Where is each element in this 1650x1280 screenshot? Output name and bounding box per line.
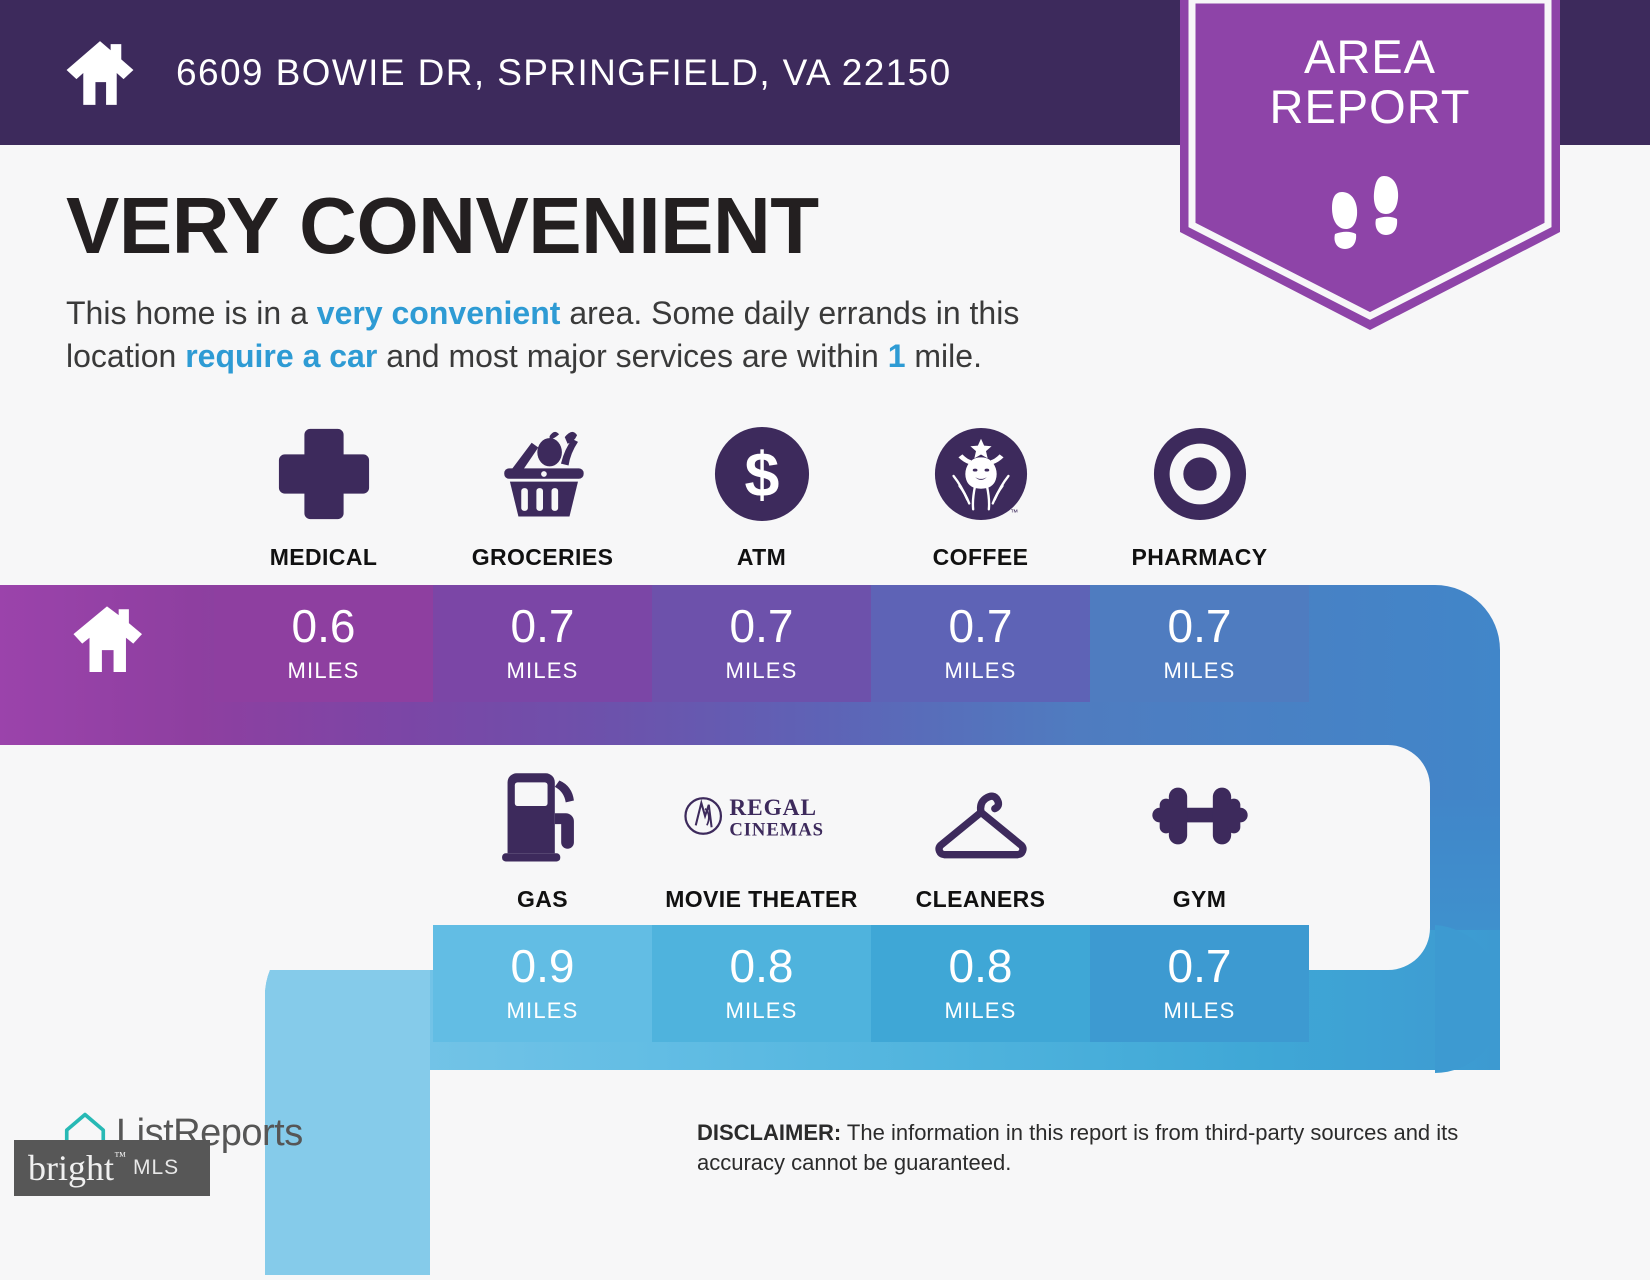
amenity-label: PHARMACY — [1131, 544, 1267, 571]
dollar-circle-icon: $ — [713, 418, 811, 530]
amenity-gym: GYM — [1090, 760, 1309, 913]
distance-cell-pharmacy: 0.7 MILES — [1090, 585, 1309, 702]
distance-cell-coffee: 0.7 MILES — [871, 585, 1090, 702]
svg-text:$: $ — [744, 441, 779, 511]
amenity-movie-theater: REGAL CINEMAS MOVIE THEATER — [652, 760, 871, 913]
amenity-groceries: GROCERIES — [433, 418, 652, 571]
distance-value: 0.7 — [949, 603, 1013, 649]
distance-unit: MILES — [725, 658, 797, 684]
svg-text:REGAL: REGAL — [729, 795, 817, 821]
grocery-basket-icon — [491, 418, 595, 530]
amenity-label: MEDICAL — [270, 544, 378, 571]
summary-highlight-3: 1 — [888, 338, 906, 374]
distance-value-row-1: 0.6 MILES 0.7 MILES 0.7 MILES 0.7 MILES … — [214, 585, 1309, 702]
amenity-label: COFFEE — [933, 544, 1029, 571]
amenity-label: MOVIE THEATER — [665, 886, 858, 913]
disclaimer-label: DISCLAIMER: — [697, 1120, 841, 1145]
distance-unit: MILES — [944, 658, 1016, 684]
dumbbell-icon — [1145, 760, 1255, 872]
distance-value: 0.7 — [730, 603, 794, 649]
starbucks-icon: ™ — [932, 418, 1030, 530]
bright-mls-watermark: bright ™ MLS — [14, 1140, 210, 1196]
area-report-badge: AREA REPORT — [1180, 0, 1560, 330]
page-title: VERY CONVENIENT — [66, 186, 1166, 266]
trademark-symbol: ™ — [114, 1149, 126, 1164]
svg-text:CINEMAS: CINEMAS — [729, 820, 824, 841]
disclaimer: DISCLAIMER: The information in this repo… — [697, 1118, 1517, 1177]
svg-text:™: ™ — [1010, 508, 1018, 517]
amenity-label: CLEANERS — [916, 886, 1046, 913]
summary-text-3: and most major services are within — [377, 338, 887, 374]
amenity-pharmacy: PHARMACY — [1090, 418, 1309, 571]
bright-brand-name: bright ™ — [28, 1147, 114, 1189]
distance-unit: MILES — [1163, 998, 1235, 1024]
summary-text-4: mile. — [906, 338, 982, 374]
summary-highlight-2: require a car — [185, 338, 377, 374]
badge-title: AREA REPORT — [1180, 32, 1560, 132]
gas-pump-icon — [493, 760, 593, 872]
amenity-label: GROCERIES — [472, 544, 614, 571]
distance-unit: MILES — [506, 658, 578, 684]
summary-description: This home is in a very convenient area. … — [66, 292, 1106, 378]
amenity-medical: MEDICAL — [214, 418, 433, 571]
medical-cross-icon — [275, 418, 373, 530]
home-marker-icon — [70, 602, 144, 672]
badge-line-1: AREA — [1180, 32, 1560, 82]
distance-unit: MILES — [506, 998, 578, 1024]
footprints-icon — [1324, 168, 1416, 256]
distance-cell-cleaners: 0.8 MILES — [871, 925, 1090, 1042]
distance-value: 0.8 — [949, 943, 1013, 989]
amenity-label: GYM — [1173, 886, 1227, 913]
distance-cell-groceries: 0.7 MILES — [433, 585, 652, 702]
distance-unit: MILES — [944, 998, 1016, 1024]
distance-cell-medical: 0.6 MILES — [214, 585, 433, 702]
distance-unit: MILES — [1163, 658, 1235, 684]
amenity-coffee: ™ COFFEE — [871, 418, 1090, 571]
distance-value: 0.7 — [511, 603, 575, 649]
regal-cinemas-icon: REGAL CINEMAS — [682, 760, 842, 872]
distance-cell-movie-theater: 0.8 MILES — [652, 925, 871, 1042]
amenity-atm: $ ATM — [652, 418, 871, 571]
home-icon — [62, 35, 138, 111]
distance-value: 0.9 — [511, 943, 575, 989]
distance-value: 0.8 — [730, 943, 794, 989]
distance-cell-atm: 0.7 MILES — [652, 585, 871, 702]
summary-highlight-1: very convenient — [317, 295, 561, 331]
amenity-cleaners: CLEANERS — [871, 760, 1090, 913]
mls-text: MLS — [133, 1156, 179, 1180]
badge-line-2: REPORT — [1180, 82, 1560, 132]
amenity-label: GAS — [517, 886, 568, 913]
distance-unit: MILES — [287, 658, 359, 684]
hanger-icon — [925, 760, 1037, 872]
amenity-label: ATM — [737, 544, 786, 571]
distance-value-row-2: 0.9 MILES 0.8 MILES 0.8 MILES 0.7 MILES — [433, 925, 1309, 1042]
distance-value: 0.7 — [1168, 603, 1232, 649]
distance-cell-gym: 0.7 MILES — [1090, 925, 1309, 1042]
summary-text-1: This home is in a — [66, 295, 317, 331]
distance-cell-gas: 0.9 MILES — [433, 925, 652, 1042]
amenity-icon-row-1: MEDICAL — [214, 418, 1309, 571]
amenity-icon-row-2: GAS REGAL CINEMAS MOVIE THEATER CLEANERS — [433, 760, 1309, 913]
distance-value: 0.6 — [292, 603, 356, 649]
property-address: 6609 BOWIE DR, SPRINGFIELD, VA 22150 — [176, 52, 952, 94]
amenity-gas: GAS — [433, 760, 652, 913]
distance-value: 0.7 — [1168, 943, 1232, 989]
bright-text: bright — [28, 1148, 114, 1188]
summary-block: VERY CONVENIENT This home is in a very c… — [66, 186, 1166, 378]
target-bullseye-icon — [1151, 418, 1249, 530]
distance-unit: MILES — [725, 998, 797, 1024]
